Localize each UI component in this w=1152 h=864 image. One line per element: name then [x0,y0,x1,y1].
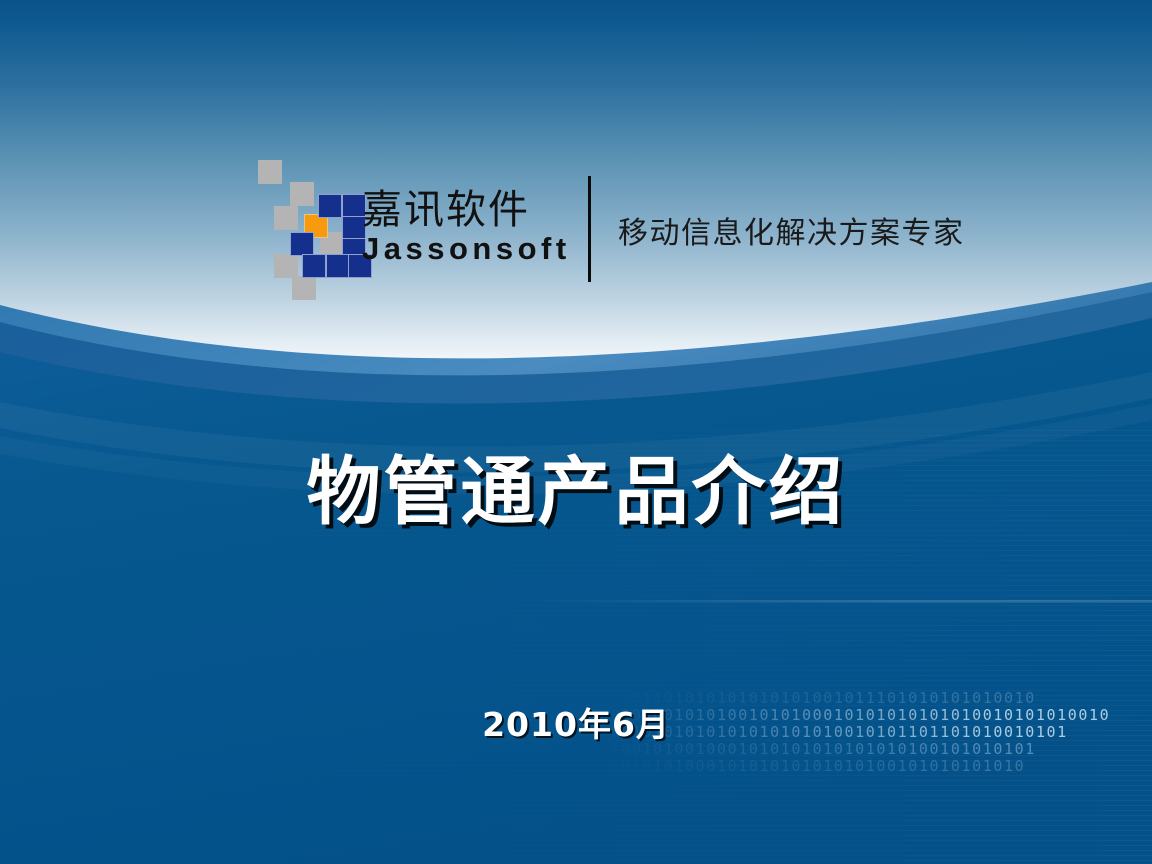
logo-name-cn: 嘉讯软件 [362,188,577,232]
slide-title: 物管通产品介绍 [0,432,1152,539]
logo-mosaic-icon [258,160,370,290]
presentation-slide: 0010110101010101010100101110101010101001… [0,0,1152,864]
company-logo-lockup: 嘉讯软件 Jassonsoft 移动信息化解决方案专家 [258,160,958,295]
slide-date: 2010年6月 [0,698,1152,746]
logo-tagline: 移动信息化解决方案专家 [618,208,965,252]
logo-wordmark: 嘉讯软件 Jassonsoft [362,188,577,266]
logo-divider [588,176,591,282]
logo-name-en: Jassonsoft [362,232,577,266]
